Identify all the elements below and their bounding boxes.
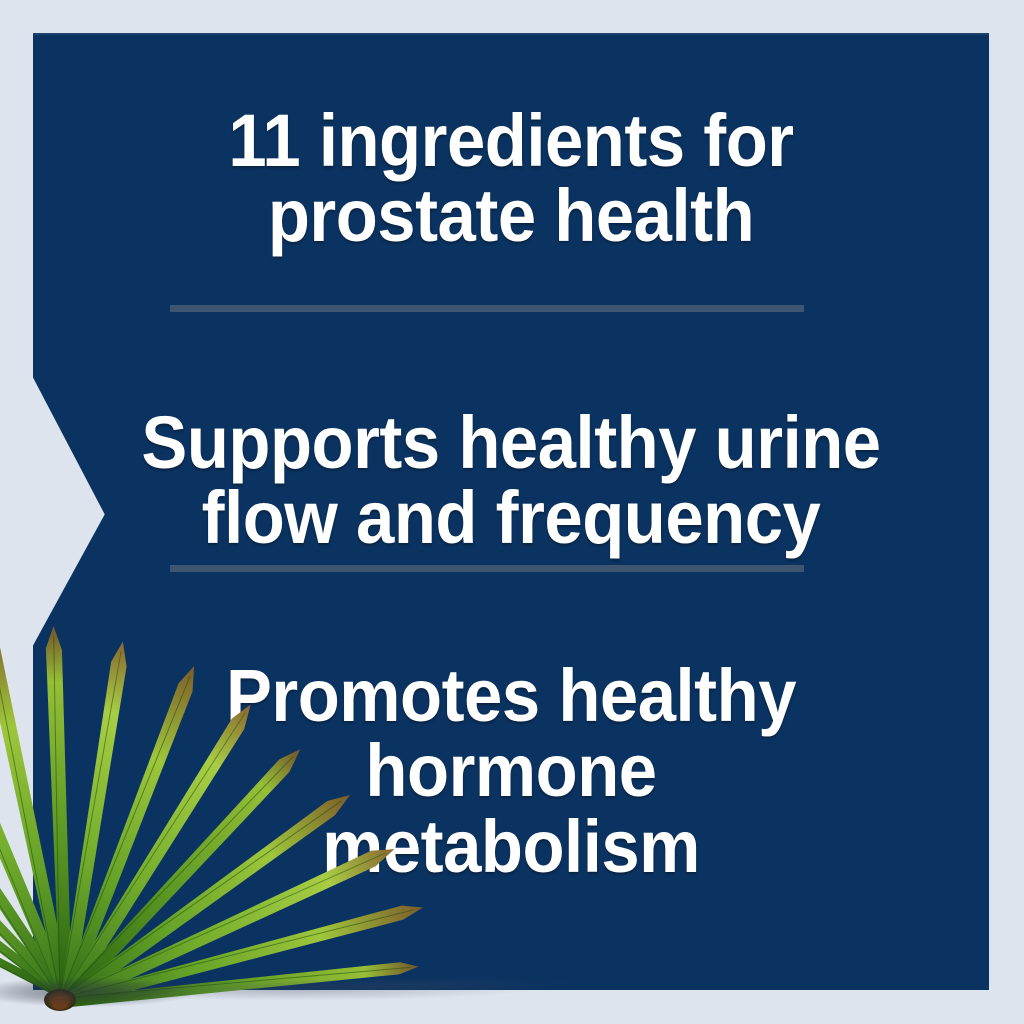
benefit-hormone-metabolism: Promotes healthy hormone metabolism (66, 658, 955, 884)
benefit-ingredients-line-1: 11 ingredients for (66, 103, 955, 178)
benefit-ingredients: 11 ingredients for prostate health (66, 103, 955, 254)
panel-top-highlight (33, 33, 989, 35)
benefit-urine-flow-line-2: flow and frequency (66, 480, 955, 555)
benefits-content: 11 ingredients for prostate health Suppo… (33, 33, 989, 990)
benefit-urine-flow: Supports healthy urine flow and frequenc… (66, 405, 955, 556)
divider-2 (170, 565, 804, 572)
benefit-ingredients-line-2: prostate health (66, 178, 955, 253)
benefit-hormone-line-1: Promotes healthy (66, 658, 955, 733)
benefit-urine-flow-line-1: Supports healthy urine (66, 405, 955, 480)
benefit-hormone-line-2: hormone (66, 733, 955, 808)
benefit-hormone-line-3: metabolism (66, 809, 955, 884)
divider-1 (170, 305, 804, 312)
marketing-graphic: 11 ingredients for prostate health Suppo… (0, 0, 1024, 1024)
